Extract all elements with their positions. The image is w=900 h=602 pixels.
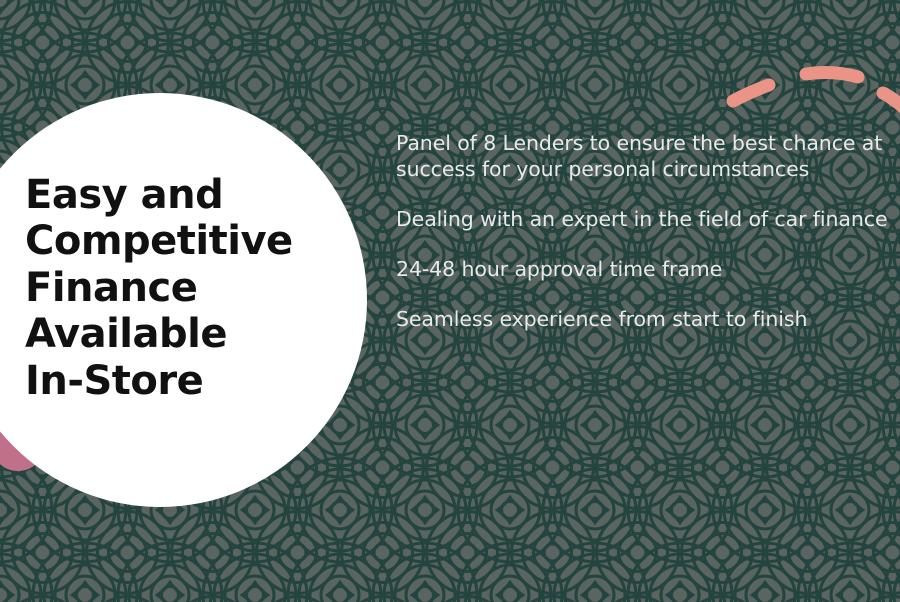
feature-item: Seamless experience from start to finish bbox=[396, 306, 888, 332]
page-title: Easy and Competitive Finance Available I… bbox=[25, 172, 325, 404]
page-title-line: Available bbox=[25, 311, 325, 357]
page-title-line: Competitive bbox=[25, 218, 325, 264]
feature-list: Panel of 8 Lenders to ensure the best ch… bbox=[396, 130, 888, 332]
feature-item: Panel of 8 Lenders to ensure the best ch… bbox=[396, 130, 888, 182]
page-title-line: Finance bbox=[25, 265, 325, 311]
feature-item: Dealing with an expert in the field of c… bbox=[396, 206, 888, 232]
page-title-line: Easy and bbox=[25, 172, 325, 218]
promo-banner: Easy and Competitive Finance Available I… bbox=[0, 0, 900, 602]
feature-item: 24-48 hour approval time frame bbox=[396, 256, 888, 282]
page-title-line: In-Store bbox=[25, 358, 325, 404]
